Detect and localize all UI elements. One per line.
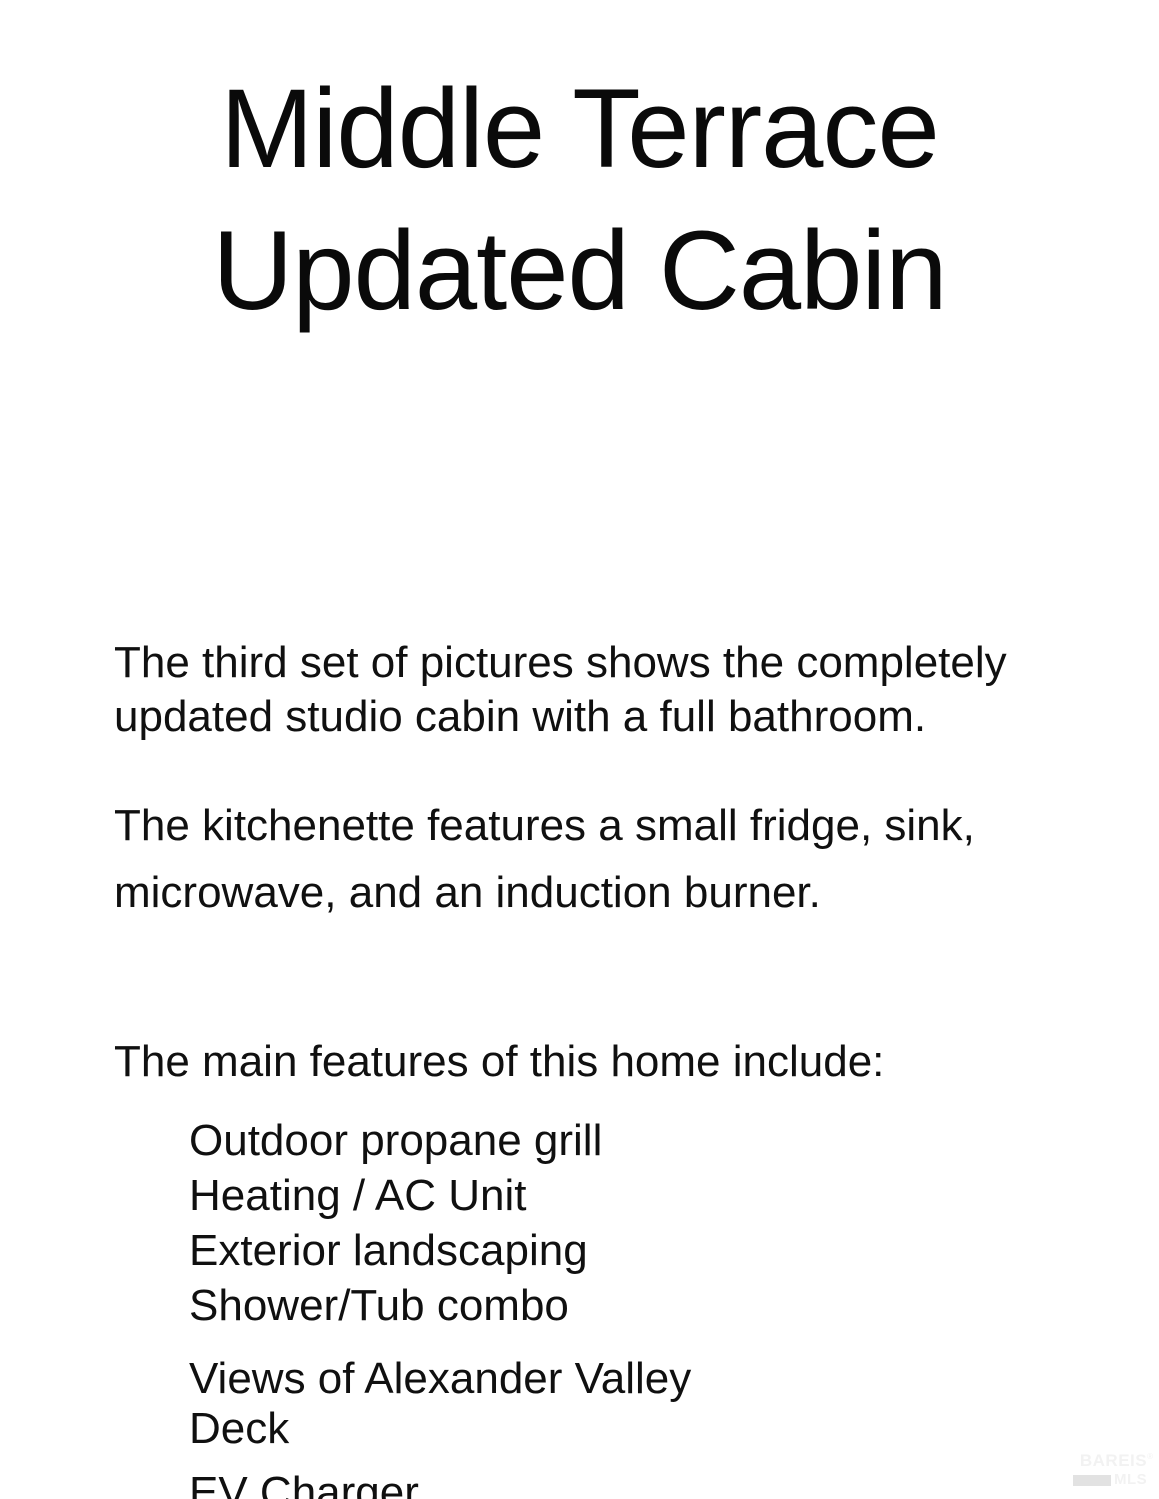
bareis-mls-watermark: BAREIS ® MLS xyxy=(1073,1452,1153,1492)
title-line-1: Middle Terrace xyxy=(0,58,1159,200)
paragraph-kitchenette: The kitchenette features a small fridge,… xyxy=(114,792,1044,926)
registered-trademark-icon: ® xyxy=(1147,1452,1153,1462)
title-line-2: Updated Cabin xyxy=(0,200,1159,342)
page-title: Middle Terrace Updated Cabin xyxy=(0,58,1159,342)
watermark-bottom-row: MLS xyxy=(1073,1471,1153,1489)
document-page: Middle Terrace Updated Cabin The third s… xyxy=(0,0,1159,1499)
list-item: Shower/Tub combo xyxy=(189,1278,1049,1333)
list-item: Exterior landscaping xyxy=(189,1223,1049,1278)
description-block: The third set of pictures shows the comp… xyxy=(114,592,1044,970)
paragraph-intro: The third set of pictures shows the comp… xyxy=(114,636,1044,744)
features-heading: The main features of this home include: xyxy=(114,1035,1044,1089)
list-item: EV Charger xyxy=(189,1465,1049,1499)
watermark-sub: MLS xyxy=(1114,1472,1147,1488)
list-item: Heating / AC Unit xyxy=(189,1168,1049,1223)
watermark-bar xyxy=(1073,1475,1111,1486)
list-item: Outdoor propane grill xyxy=(189,1113,1049,1168)
watermark-brand: BAREIS xyxy=(1080,1452,1147,1470)
features-list: Outdoor propane grill Heating / AC Unit … xyxy=(189,1113,1049,1499)
watermark-top-row: BAREIS ® xyxy=(1073,1452,1153,1471)
list-item: Views of Alexander Valley xyxy=(189,1351,1049,1406)
list-item: Deck xyxy=(189,1406,1049,1451)
